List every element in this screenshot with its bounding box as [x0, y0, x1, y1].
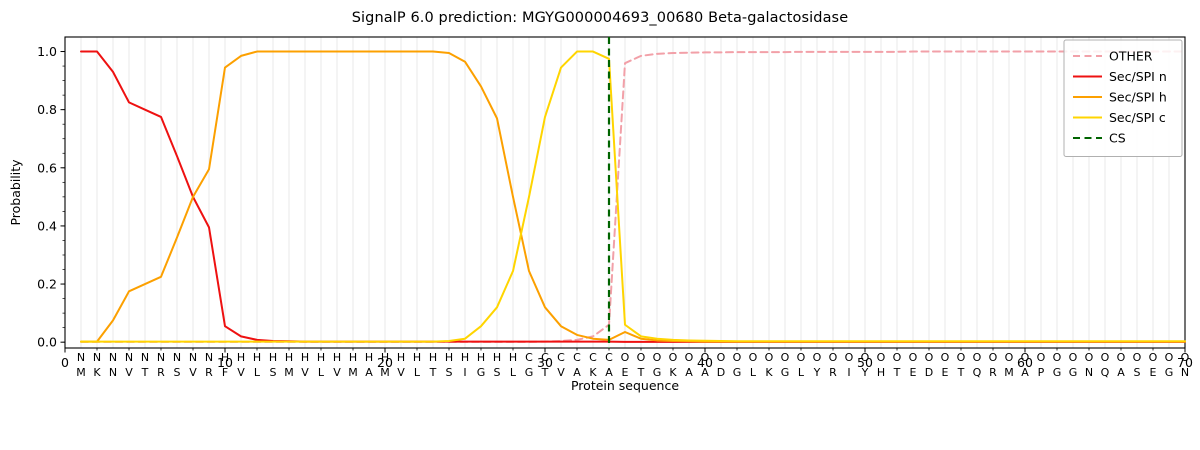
region-letter: O: [1133, 351, 1142, 364]
region-letter: O: [893, 351, 902, 364]
region-letter: H: [397, 351, 405, 364]
region-letter: O: [765, 351, 774, 364]
sequence-letter: N: [1181, 366, 1189, 379]
sequence-letter: G: [733, 366, 742, 379]
region-letter: H: [413, 351, 421, 364]
sequence-letter: A: [701, 366, 709, 379]
region-letter: H: [221, 351, 229, 364]
sequence-letter: G: [525, 366, 534, 379]
sequence-letter: D: [717, 366, 725, 379]
sequence-letter: V: [333, 366, 341, 379]
sequence-letter: A: [365, 366, 373, 379]
series-line-sec-spi-h: [81, 52, 1185, 342]
sequence-letter: V: [301, 366, 309, 379]
region-letter: O: [909, 351, 918, 364]
y-axis-label: Probability: [8, 159, 23, 226]
sequence-letter: T: [541, 366, 549, 379]
sequence-letter: M: [1004, 366, 1014, 379]
sequence-letter: T: [957, 366, 965, 379]
region-letter: O: [797, 351, 806, 364]
region-letter: H: [509, 351, 517, 364]
sequence-letter: G: [1053, 366, 1062, 379]
region-letter: O: [1181, 351, 1190, 364]
region-letter: C: [605, 351, 613, 364]
sequence-letter: L: [414, 366, 421, 379]
region-letter: O: [1021, 351, 1030, 364]
region-letter: H: [429, 351, 437, 364]
region-letter: H: [349, 351, 357, 364]
sequence-letter: L: [750, 366, 757, 379]
sequence-letter: K: [93, 366, 101, 379]
sequence-letter: T: [429, 366, 437, 379]
region-letter: H: [477, 351, 485, 364]
sequence-letter: E: [942, 366, 949, 379]
region-letter: C: [525, 351, 533, 364]
chart-canvas: 0102030405060700.00.20.40.60.81.0Protein…: [0, 0, 1200, 450]
sequence-letter: L: [318, 366, 325, 379]
region-letter: O: [685, 351, 694, 364]
region-letter: H: [285, 351, 293, 364]
region-letter: N: [109, 351, 117, 364]
series-line-sec-spi-n: [81, 52, 1185, 342]
region-letter: O: [637, 351, 646, 364]
sequence-letter: S: [174, 366, 181, 379]
signalp-prediction-figure: SignalP 6.0 prediction: MGYG000004693_00…: [0, 0, 1200, 450]
region-letter: O: [1085, 351, 1094, 364]
region-letter: C: [557, 351, 565, 364]
sequence-letter: A: [1021, 366, 1029, 379]
region-letter: O: [1149, 351, 1158, 364]
region-letter: O: [877, 351, 886, 364]
sequence-letter: N: [1085, 366, 1093, 379]
legend-label-sec-spi-n: Sec/SPI n: [1109, 69, 1167, 84]
region-letter: N: [77, 351, 85, 364]
sequence-letter: Q: [973, 366, 982, 379]
region-letter: O: [653, 351, 662, 364]
y-tick-label: 0.6: [37, 160, 57, 175]
sequence-letter: M: [284, 366, 294, 379]
region-letter: O: [1005, 351, 1014, 364]
region-letter: O: [1069, 351, 1078, 364]
region-letter: O: [621, 351, 630, 364]
sequence-letter: G: [653, 366, 662, 379]
y-tick-label: 0.2: [37, 277, 57, 292]
sequence-letter: G: [1069, 366, 1078, 379]
region-letter: O: [1101, 351, 1110, 364]
sequence-letter: Q: [1101, 366, 1110, 379]
sequence-letter: R: [205, 366, 213, 379]
sequence-letter: L: [798, 366, 805, 379]
sequence-letter: A: [605, 366, 613, 379]
region-letter: N: [141, 351, 149, 364]
region-letter: O: [829, 351, 838, 364]
y-tick-label: 0.4: [37, 218, 57, 233]
region-letter: H: [461, 351, 469, 364]
y-tick-label: 1.0: [37, 44, 57, 59]
sequence-letter: A: [685, 366, 693, 379]
region-letter: N: [93, 351, 101, 364]
sequence-letter: K: [669, 366, 677, 379]
sequence-letter: S: [446, 366, 453, 379]
sequence-letter: G: [1165, 366, 1174, 379]
sequence-letter: K: [589, 366, 597, 379]
region-letter: O: [989, 351, 998, 364]
sequence-letter: E: [910, 366, 917, 379]
x-axis-label: Protein sequence: [571, 378, 679, 393]
region-letter: H: [381, 351, 389, 364]
sequence-letter: V: [557, 366, 565, 379]
region-letter: O: [813, 351, 822, 364]
region-letter: O: [701, 351, 710, 364]
region-letter: O: [925, 351, 934, 364]
region-letter: H: [445, 351, 453, 364]
region-letter: O: [973, 351, 982, 364]
region-letter: H: [237, 351, 245, 364]
region-letter: O: [957, 351, 966, 364]
sequence-letter: V: [189, 366, 197, 379]
sequence-letter: Y: [813, 366, 821, 379]
region-letter: O: [781, 351, 790, 364]
sequence-letter: F: [222, 366, 228, 379]
region-letter: N: [189, 351, 197, 364]
legend-label-other: OTHER: [1109, 49, 1153, 64]
region-letter: O: [861, 351, 870, 364]
sequence-letter: D: [925, 366, 933, 379]
sequence-letter: S: [270, 366, 277, 379]
x-tick-label: 0: [61, 355, 69, 370]
sequence-letter: R: [829, 366, 837, 379]
sequence-letter: A: [573, 366, 581, 379]
sequence-letter: R: [157, 366, 165, 379]
region-letter: N: [205, 351, 213, 364]
region-letter: C: [541, 351, 549, 364]
region-letter: O: [749, 351, 758, 364]
region-letter: O: [845, 351, 854, 364]
sequence-letter: H: [877, 366, 885, 379]
series-line-sec-spi-c: [81, 52, 1185, 342]
region-letter: N: [157, 351, 165, 364]
sequence-letter: I: [463, 366, 466, 379]
sequence-letter: T: [141, 366, 149, 379]
region-letter: N: [173, 351, 181, 364]
sequence-letter: S: [1134, 366, 1141, 379]
region-letter: H: [253, 351, 261, 364]
y-tick-label: 0.0: [37, 335, 57, 350]
sequence-letter: E: [1150, 366, 1157, 379]
region-letter: O: [1053, 351, 1062, 364]
region-letter: O: [669, 351, 678, 364]
sequence-letter: V: [125, 366, 133, 379]
sequence-letter: V: [237, 366, 245, 379]
region-letter: H: [317, 351, 325, 364]
sequence-letter: L: [254, 366, 261, 379]
sequence-letter: M: [380, 366, 390, 379]
y-tick-label: 0.8: [37, 102, 57, 117]
sequence-letter: S: [494, 366, 501, 379]
region-letter: H: [493, 351, 501, 364]
region-letter: H: [301, 351, 309, 364]
region-letter: N: [125, 351, 133, 364]
series-line-other: [81, 52, 1185, 342]
sequence-letter: T: [637, 366, 645, 379]
region-letter: O: [733, 351, 742, 364]
sequence-letter: A: [1117, 366, 1125, 379]
sequence-letter: N: [109, 366, 117, 379]
legend-label-sec-spi-h: Sec/SPI h: [1109, 90, 1167, 105]
sequence-letter: R: [989, 366, 997, 379]
sequence-letter: M: [348, 366, 358, 379]
sequence-letter: E: [622, 366, 629, 379]
region-letter: O: [1165, 351, 1174, 364]
sequence-letter: K: [765, 366, 773, 379]
sequence-letter: T: [893, 366, 901, 379]
sequence-letter: G: [781, 366, 790, 379]
region-letter: H: [333, 351, 341, 364]
sequence-letter: M: [76, 366, 86, 379]
sequence-letter: Y: [861, 366, 869, 379]
region-letter: C: [589, 351, 597, 364]
region-letter: O: [717, 351, 726, 364]
sequence-letter: P: [1038, 366, 1045, 379]
region-letter: O: [941, 351, 950, 364]
sequence-letter: I: [847, 366, 850, 379]
region-letter: H: [365, 351, 373, 364]
sequence-letter: L: [510, 366, 517, 379]
legend-label-sec-spi-c: Sec/SPI c: [1109, 110, 1166, 125]
region-letter: O: [1037, 351, 1046, 364]
region-letter: O: [1117, 351, 1126, 364]
sequence-letter: V: [397, 366, 405, 379]
sequence-letter: G: [477, 366, 486, 379]
region-letter: H: [269, 351, 277, 364]
region-letter: C: [573, 351, 581, 364]
legend-label-cs: CS: [1109, 131, 1126, 146]
